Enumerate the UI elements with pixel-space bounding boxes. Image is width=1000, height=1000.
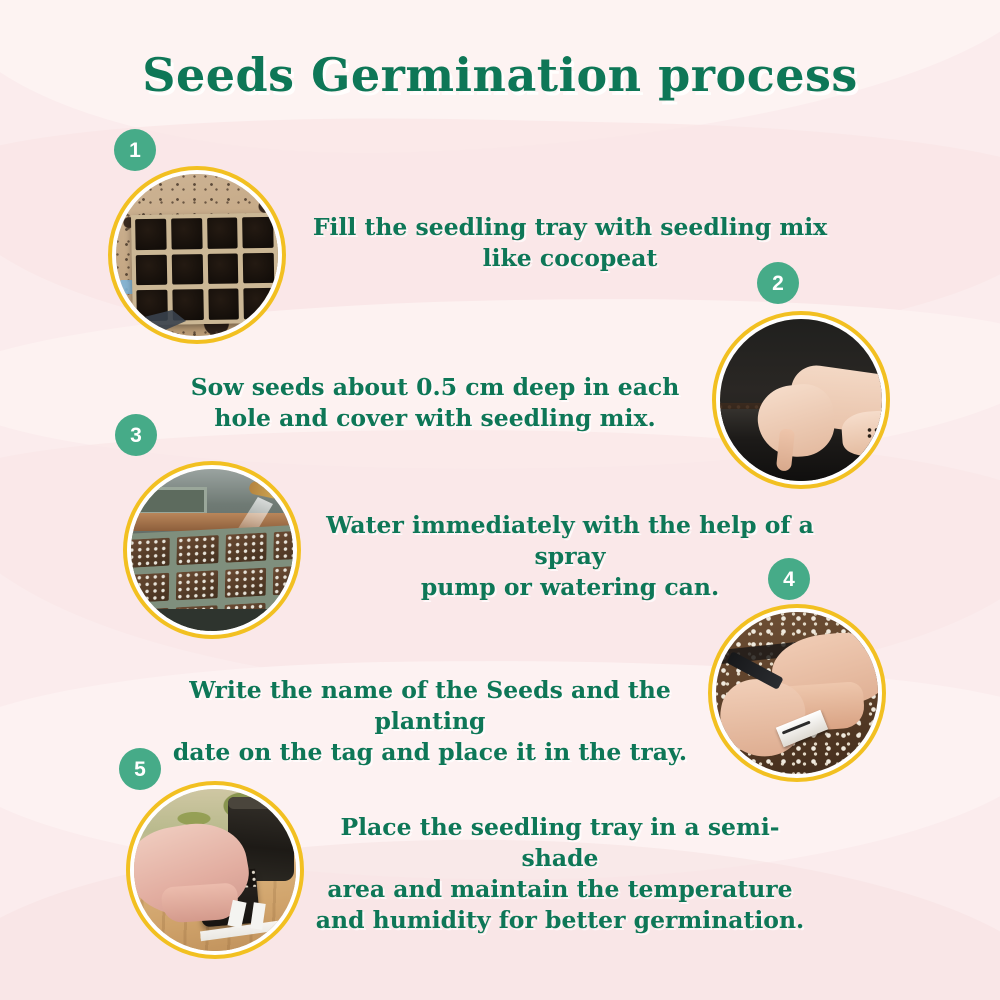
step-1-number-badge: 1 [114,129,156,171]
step-1-photo [108,166,286,344]
placing-seedling-tray-on-table-photo [134,789,296,951]
tray-cell [242,217,273,248]
writing-plant-label-tag-photo [716,612,878,774]
seedling-tray-filled-with-cocopeat-photo [116,174,278,336]
tray-cell [131,573,169,603]
tray-cell [171,254,202,285]
tray-cell [207,217,238,248]
step-5-number-badge: 5 [119,748,161,790]
step-2-number-badge: 2 [757,262,799,304]
step-4-photo-ring [708,604,886,782]
tray-cell [131,538,170,568]
tray-cell [225,533,267,563]
step-5-photo-ring [126,781,304,959]
tray-cell [207,253,238,284]
step-2-photo-ring [712,311,890,489]
hands-sowing-seeds-into-tray-photo [720,319,882,481]
step-3-photo-ring [123,461,301,639]
tag-writing [782,721,811,735]
step-5-caption: Place the seedling tray in a semi-shade … [305,812,815,936]
tray-cell [244,288,275,319]
cocopeat-tray [131,213,278,326]
step-5-photo [126,781,304,959]
step-2-caption: Sow seeds about 0.5 cm deep in each hole… [180,372,690,434]
step-4-photo [708,604,886,782]
step-2-photo [712,311,890,489]
step-1-photo-ring [108,166,286,344]
step-4-caption: Write the name of the Seeds and the plan… [145,675,715,768]
shaded-foreground [131,609,293,631]
tray-cell [135,219,166,250]
step-3-number-badge: 3 [115,414,157,456]
background-tray [137,487,207,515]
poster-title: Seeds Germination process [0,48,1000,102]
infographic-poster: Seeds Germination process [0,0,1000,1000]
pot-rim [228,797,294,809]
tray-cell [176,535,218,565]
tray-cell [176,570,218,600]
tray-cell [171,218,202,249]
watering-seedling-tray-with-spray-photo [131,469,293,631]
tray-cell [224,568,266,598]
tray-cell [136,254,167,285]
step-1-caption: Fill the seedling tray with seedling mix… [300,212,840,274]
step-3-photo [123,461,301,639]
seeds-in-palm [866,427,882,439]
tray-cell [208,289,239,320]
step-3-caption: Water immediately with the help of a spr… [290,510,850,603]
step-4-number-badge: 4 [768,558,810,600]
tray-cell [243,252,274,283]
